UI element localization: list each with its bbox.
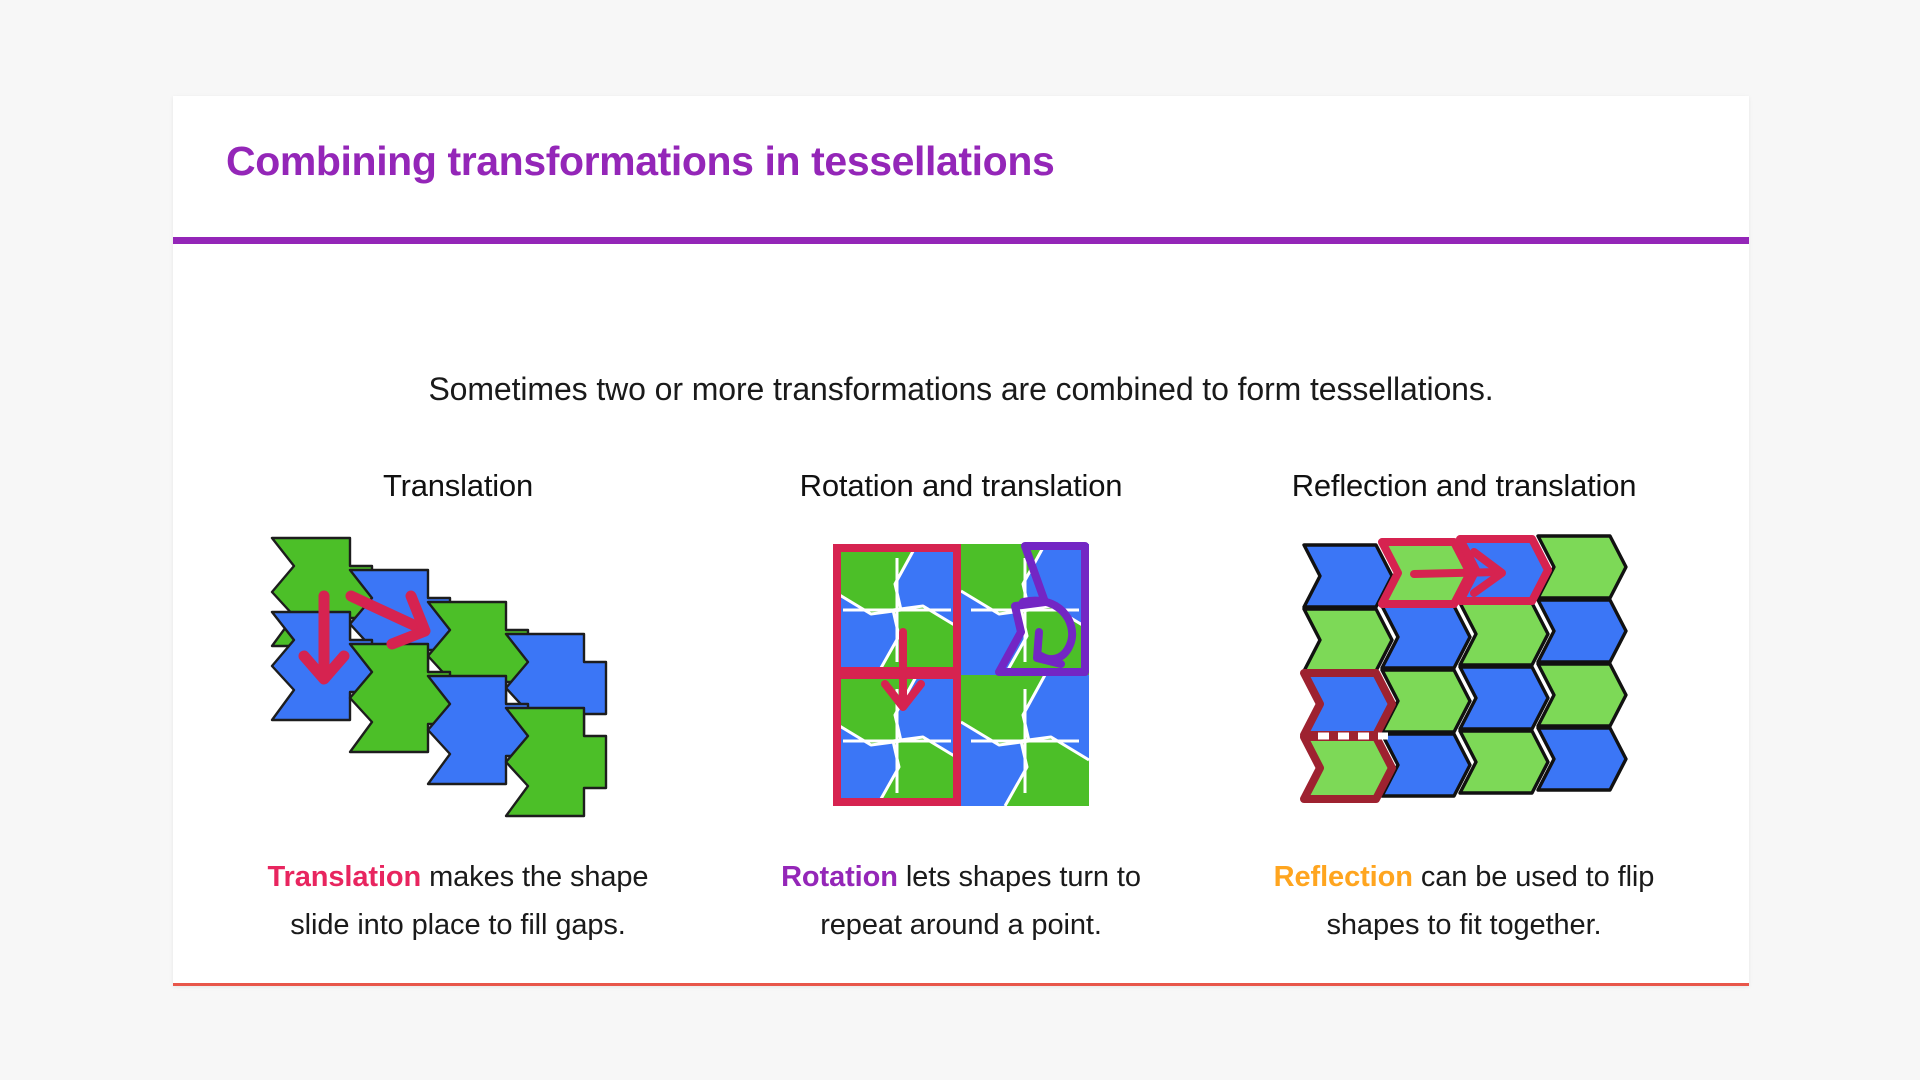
caption-keyword-translation: Translation [268,861,422,893]
rotation-tessellation-svg [833,544,1089,806]
columns-container: Translation [173,468,1749,950]
reflection-tessellation-svg [1294,539,1634,811]
card-header: Combining transformations in tessellatio… [173,96,1749,238]
slide-card: Combining transformations in tessellatio… [173,96,1749,986]
column-rotation: Rotation and translation [716,468,1206,950]
column-heading-reflection: Reflection and translation [1292,468,1637,512]
caption-rotation: Rotation lets shapes turn to repeat arou… [741,854,1181,950]
page-title: Combining transformations in tessellatio… [226,138,1054,185]
slide-canvas: Combining transformations in tessellatio… [0,0,1920,1080]
column-reflection: Reflection and translation [1219,468,1709,950]
caption-keyword-rotation: Rotation [781,861,898,893]
rotation-translation-tessellation-figure [833,534,1089,816]
reflection-translation-tessellation-figure [1294,534,1634,816]
column-heading-translation: Translation [383,468,533,512]
intro-text: Sometimes two or more transformations ar… [173,371,1749,408]
caption-translation: Translation makes the shape slide into p… [238,854,678,950]
header-divider [173,237,1749,244]
caption-keyword-reflection: Reflection [1274,861,1413,893]
column-heading-rotation: Rotation and translation [800,468,1123,512]
translation-tessellation-svg [258,534,658,816]
caption-reflection: Reflection can be used to flip shapes to… [1244,854,1684,950]
card-bottom-accent-rule [173,983,1749,986]
translation-tessellation-figure [258,534,658,816]
column-translation: Translation [213,468,703,950]
